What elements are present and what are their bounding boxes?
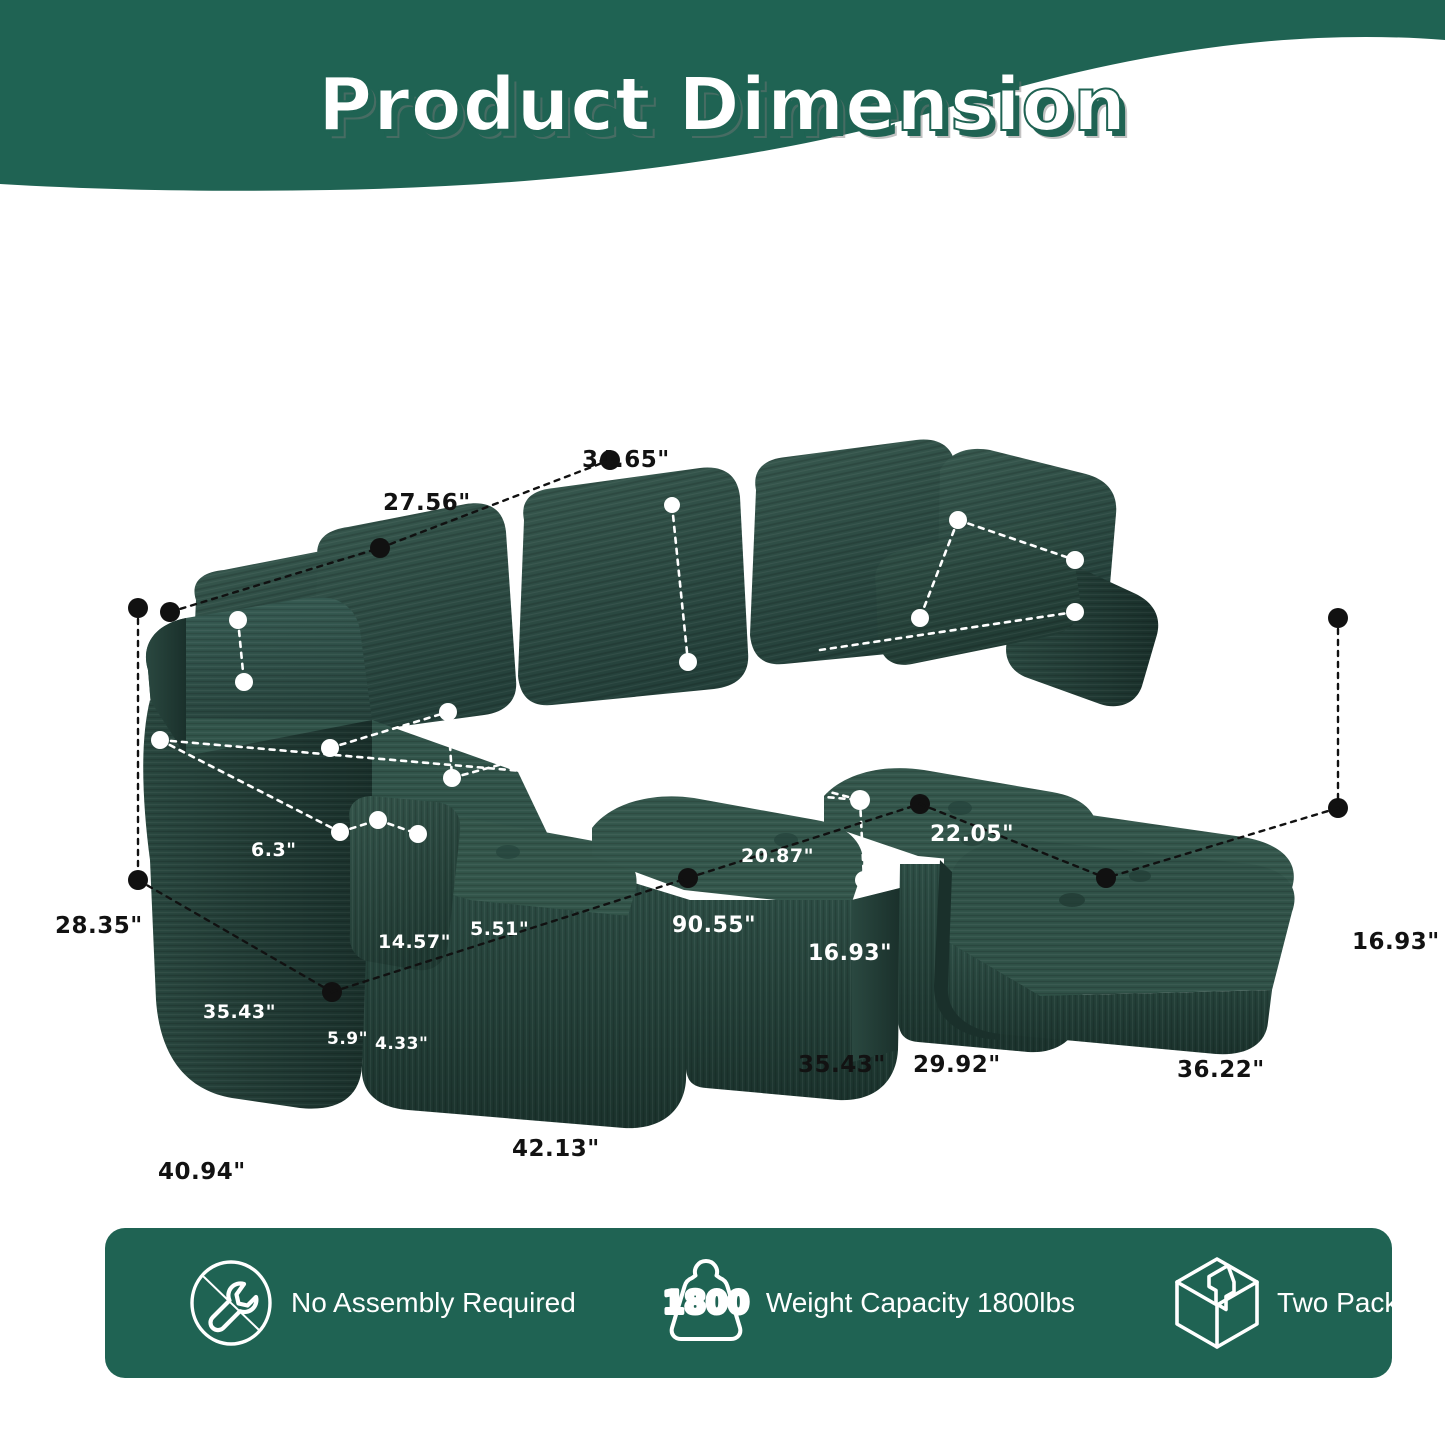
feature-packages: Two Packages xyxy=(1163,1228,1445,1378)
feature-weight-capacity: 1800 Weight Capacity 1800lbs xyxy=(652,1228,1075,1378)
sofa-illustration xyxy=(0,200,1445,1210)
weight-capacity-badge: 1800 xyxy=(663,1285,749,1321)
tuft xyxy=(948,801,972,815)
feature-label-weight-capacity: Weight Capacity 1800lbs xyxy=(766,1287,1075,1319)
backrest-cushion-2 xyxy=(518,468,748,706)
weight-icon: 1800 xyxy=(652,1249,760,1357)
header-banner: Product Dimension xyxy=(0,0,1445,200)
feature-no-assembly: No Assembly Required xyxy=(177,1228,576,1378)
feature-label-no-assembly: No Assembly Required xyxy=(291,1287,576,1319)
product-dimension-diagram: 27.56" 34.65" 18.9" 11.81" 22.05" 6.3" 2… xyxy=(0,200,1445,1210)
feature-label-packages: Two Packages xyxy=(1277,1287,1445,1319)
chaise-ottoman xyxy=(934,808,1295,1054)
box-icon xyxy=(1163,1249,1271,1357)
tuft xyxy=(496,845,520,859)
side-pillow-left xyxy=(349,796,460,970)
infographic-canvas: Product Dimension xyxy=(0,0,1445,1445)
no-wrench-icon xyxy=(177,1249,285,1357)
header-wave-shape xyxy=(0,0,1445,200)
feature-highlight-bar: No Assembly Required 1800 Weight Capacit… xyxy=(105,1228,1392,1378)
